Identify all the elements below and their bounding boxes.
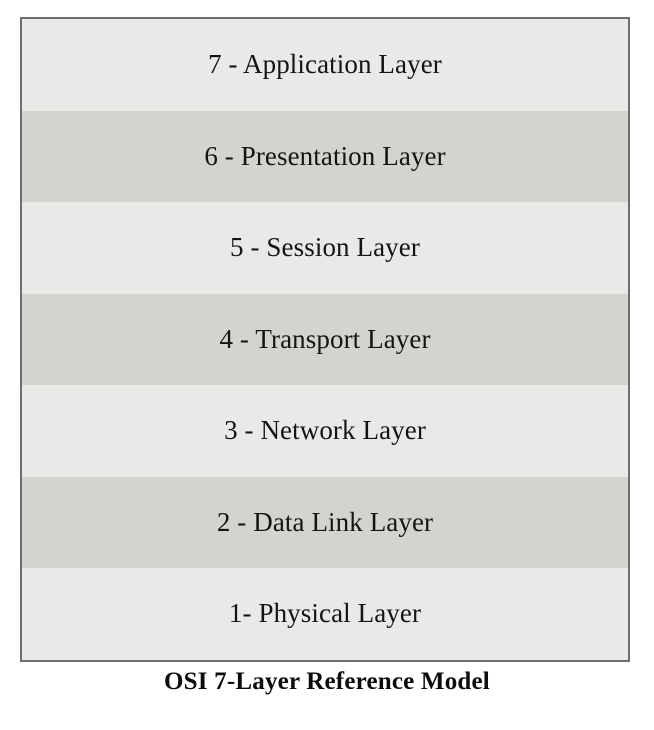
osi-layer-7-label: 7 - Application Layer [208,50,442,80]
osi-layer-6: 6 - Presentation Layer [22,111,628,203]
osi-layer-6-label: 6 - Presentation Layer [204,142,445,172]
osi-layer-7: 7 - Application Layer [22,19,628,111]
osi-layer-2-label: 2 - Data Link Layer [217,508,433,538]
osi-layer-4-label: 4 - Transport Layer [219,325,430,355]
osi-layer-stack: 7 - Application Layer 6 - Presentation L… [20,17,630,662]
osi-layer-4: 4 - Transport Layer [22,294,628,386]
osi-layer-3-label: 3 - Network Layer [224,416,426,446]
osi-layer-1: 1- Physical Layer [22,568,628,660]
osi-reference-model-figure: 7 - Application Layer 6 - Presentation L… [0,0,654,730]
osi-layer-3: 3 - Network Layer [22,385,628,477]
osi-layer-5: 5 - Session Layer [22,202,628,294]
osi-layer-2: 2 - Data Link Layer [22,477,628,569]
figure-caption: OSI 7-Layer Reference Model [0,668,654,696]
osi-layer-1-label: 1- Physical Layer [229,599,421,629]
osi-layer-5-label: 5 - Session Layer [230,233,420,263]
